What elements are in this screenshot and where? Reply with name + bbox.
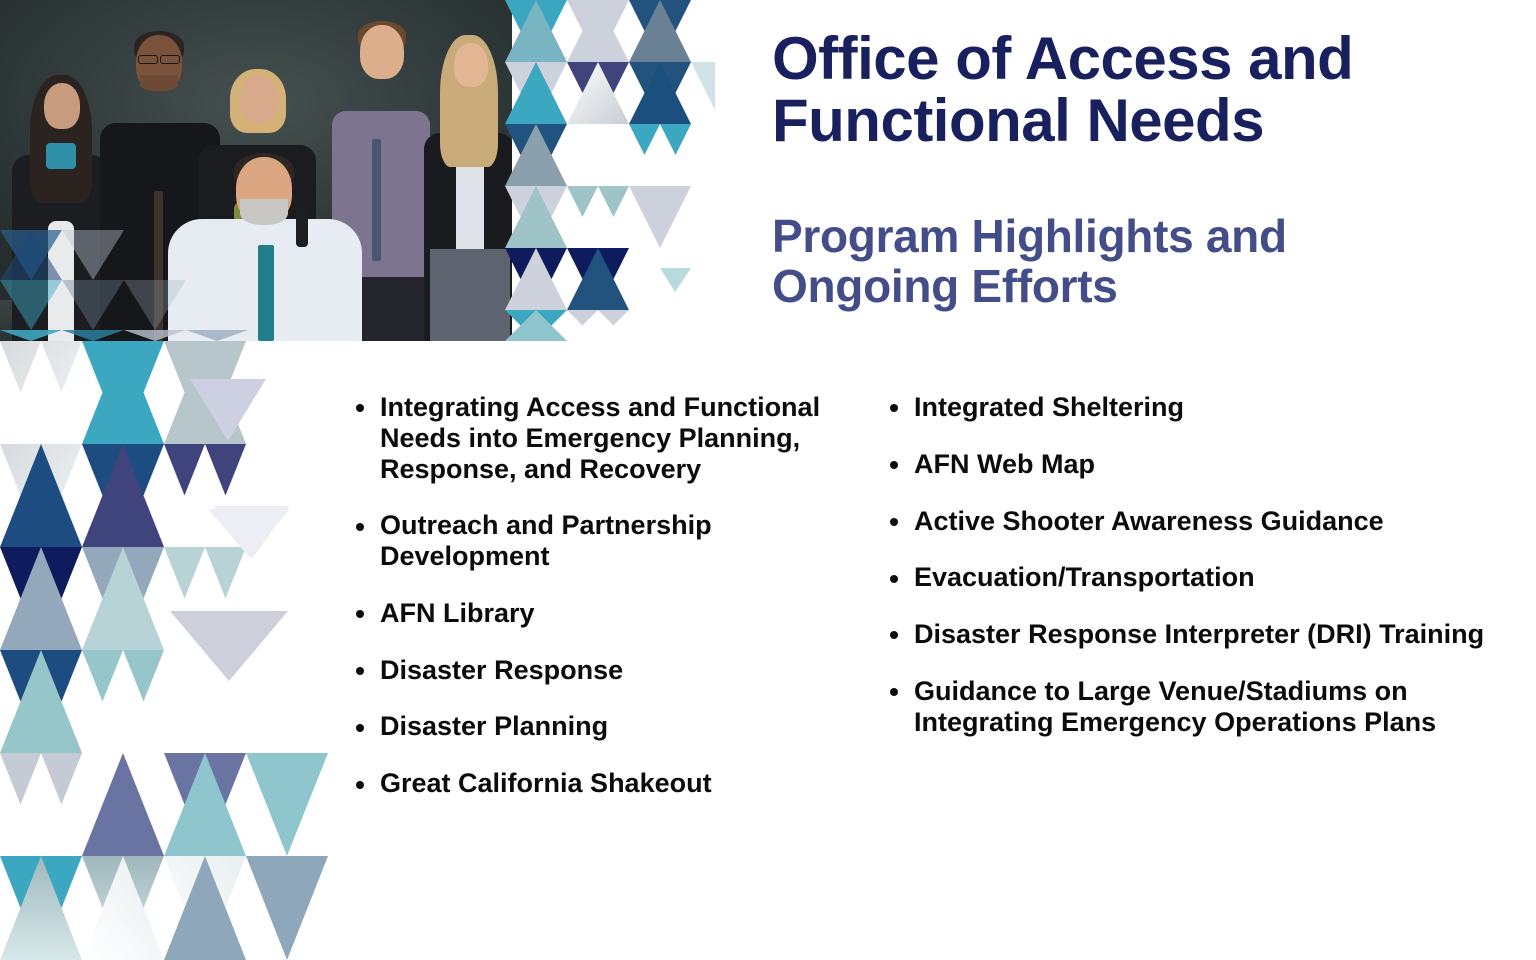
- photo-overlay-triangles: [0, 0, 512, 341]
- decor-triangles-top: [505, 0, 715, 341]
- bullet-column-right: Integrated Sheltering AFN Web Map Active…: [882, 392, 1502, 763]
- list-item: Integrated Sheltering: [882, 392, 1502, 423]
- slide-root: Office of Access and Functional Needs Pr…: [0, 0, 1536, 960]
- list-item: Integrating Access and Functional Needs …: [348, 392, 848, 484]
- team-photo: [0, 0, 512, 341]
- slide-title: Office of Access and Functional Needs: [772, 28, 1512, 153]
- list-item: AFN Library: [348, 598, 848, 629]
- list-item: Outreach and Partnership Development: [348, 510, 848, 572]
- subtitle-line-1: Program Highlights and: [772, 212, 1492, 262]
- bullet-list-left: Integrating Access and Functional Needs …: [348, 392, 848, 799]
- bullet-list-right: Integrated Sheltering AFN Web Map Active…: [882, 392, 1502, 737]
- list-item: Disaster Response: [348, 655, 848, 686]
- list-item: AFN Web Map: [882, 449, 1502, 480]
- list-item: Guidance to Large Venue/Stadiums on Inte…: [882, 676, 1502, 738]
- list-item: Active Shooter Awareness Guidance: [882, 506, 1502, 537]
- slide-subtitle: Program Highlights and Ongoing Efforts: [772, 212, 1492, 311]
- list-item: Great California Shakeout: [348, 768, 848, 799]
- list-item: Evacuation/Transportation: [882, 562, 1502, 593]
- title-line-2: Functional Needs: [772, 90, 1512, 152]
- title-line-1: Office of Access and: [772, 28, 1512, 90]
- bullet-column-left: Integrating Access and Functional Needs …: [348, 392, 848, 825]
- list-item: Disaster Planning: [348, 711, 848, 742]
- list-item: Disaster Response Interpreter (DRI) Trai…: [882, 619, 1502, 650]
- subtitle-line-2: Ongoing Efforts: [772, 262, 1492, 312]
- decor-triangles-left: [0, 341, 330, 960]
